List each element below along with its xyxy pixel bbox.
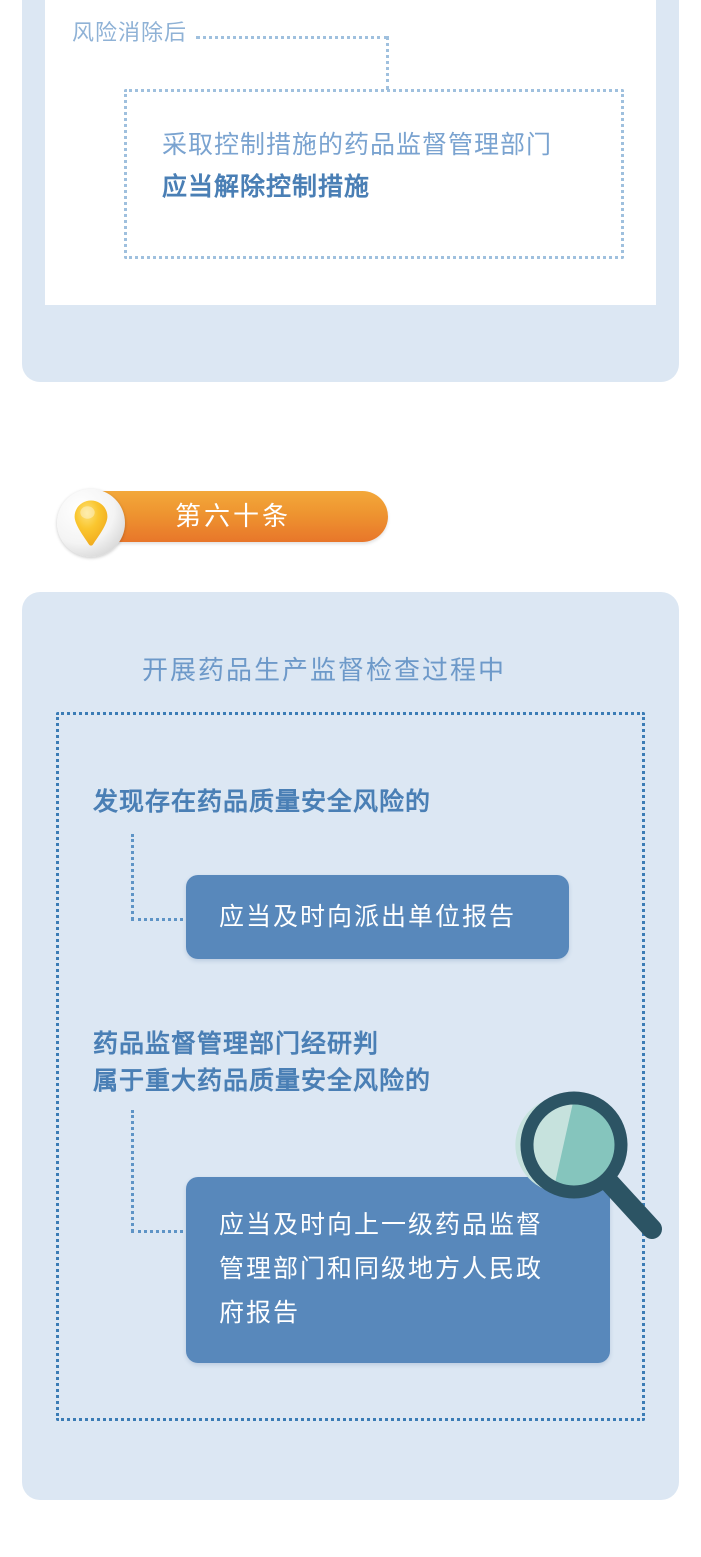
top-lead-horizontal-connector — [196, 36, 388, 39]
action-2-line-2: 管理部门和同级地方人民政 — [219, 1247, 610, 1291]
action-2-line-3: 府报告 — [219, 1291, 610, 1335]
section-title: 开展药品生产监督检查过程中 — [142, 653, 506, 687]
article-badge[interactable]: 第六十条 — [57, 489, 388, 544]
location-pin-icon — [74, 500, 108, 546]
magnifier-icon — [512, 1083, 664, 1245]
condition-1-line-1: 发现存在药品质量安全风险的 — [93, 784, 431, 821]
action-1-line-1: 应当及时向派出单位报告 — [219, 895, 569, 939]
article-badge-icon-circle — [57, 489, 125, 557]
top-lead-vertical-connector — [386, 36, 389, 90]
risk-removed-label: 风险消除后 — [72, 22, 187, 44]
connector-2-vertical — [131, 1110, 134, 1232]
condition-2-line-2: 属于重大药品质量安全风险的 — [93, 1063, 431, 1100]
action-box-1[interactable]: 应当及时向派出单位报告 — [186, 875, 569, 959]
condition-2-line-1: 药品监督管理部门经研判 — [93, 1026, 379, 1063]
top-callout-line-2: 应当解除控制措施 — [162, 166, 552, 208]
top-callout-line-1: 采取控制措施的药品监督管理部门 — [162, 124, 552, 166]
connector-1-horizontal — [131, 918, 189, 921]
connector-2-horizontal — [131, 1230, 189, 1233]
top-callout-dotted-box: 采取控制措施的药品监督管理部门 应当解除控制措施 — [124, 89, 624, 259]
connector-1-vertical — [131, 834, 134, 920]
infographic-page: 风险消除后 采取控制措施的药品监督管理部门 应当解除控制措施 — [0, 0, 701, 1557]
article-badge-label: 第六十条 — [175, 500, 291, 532]
